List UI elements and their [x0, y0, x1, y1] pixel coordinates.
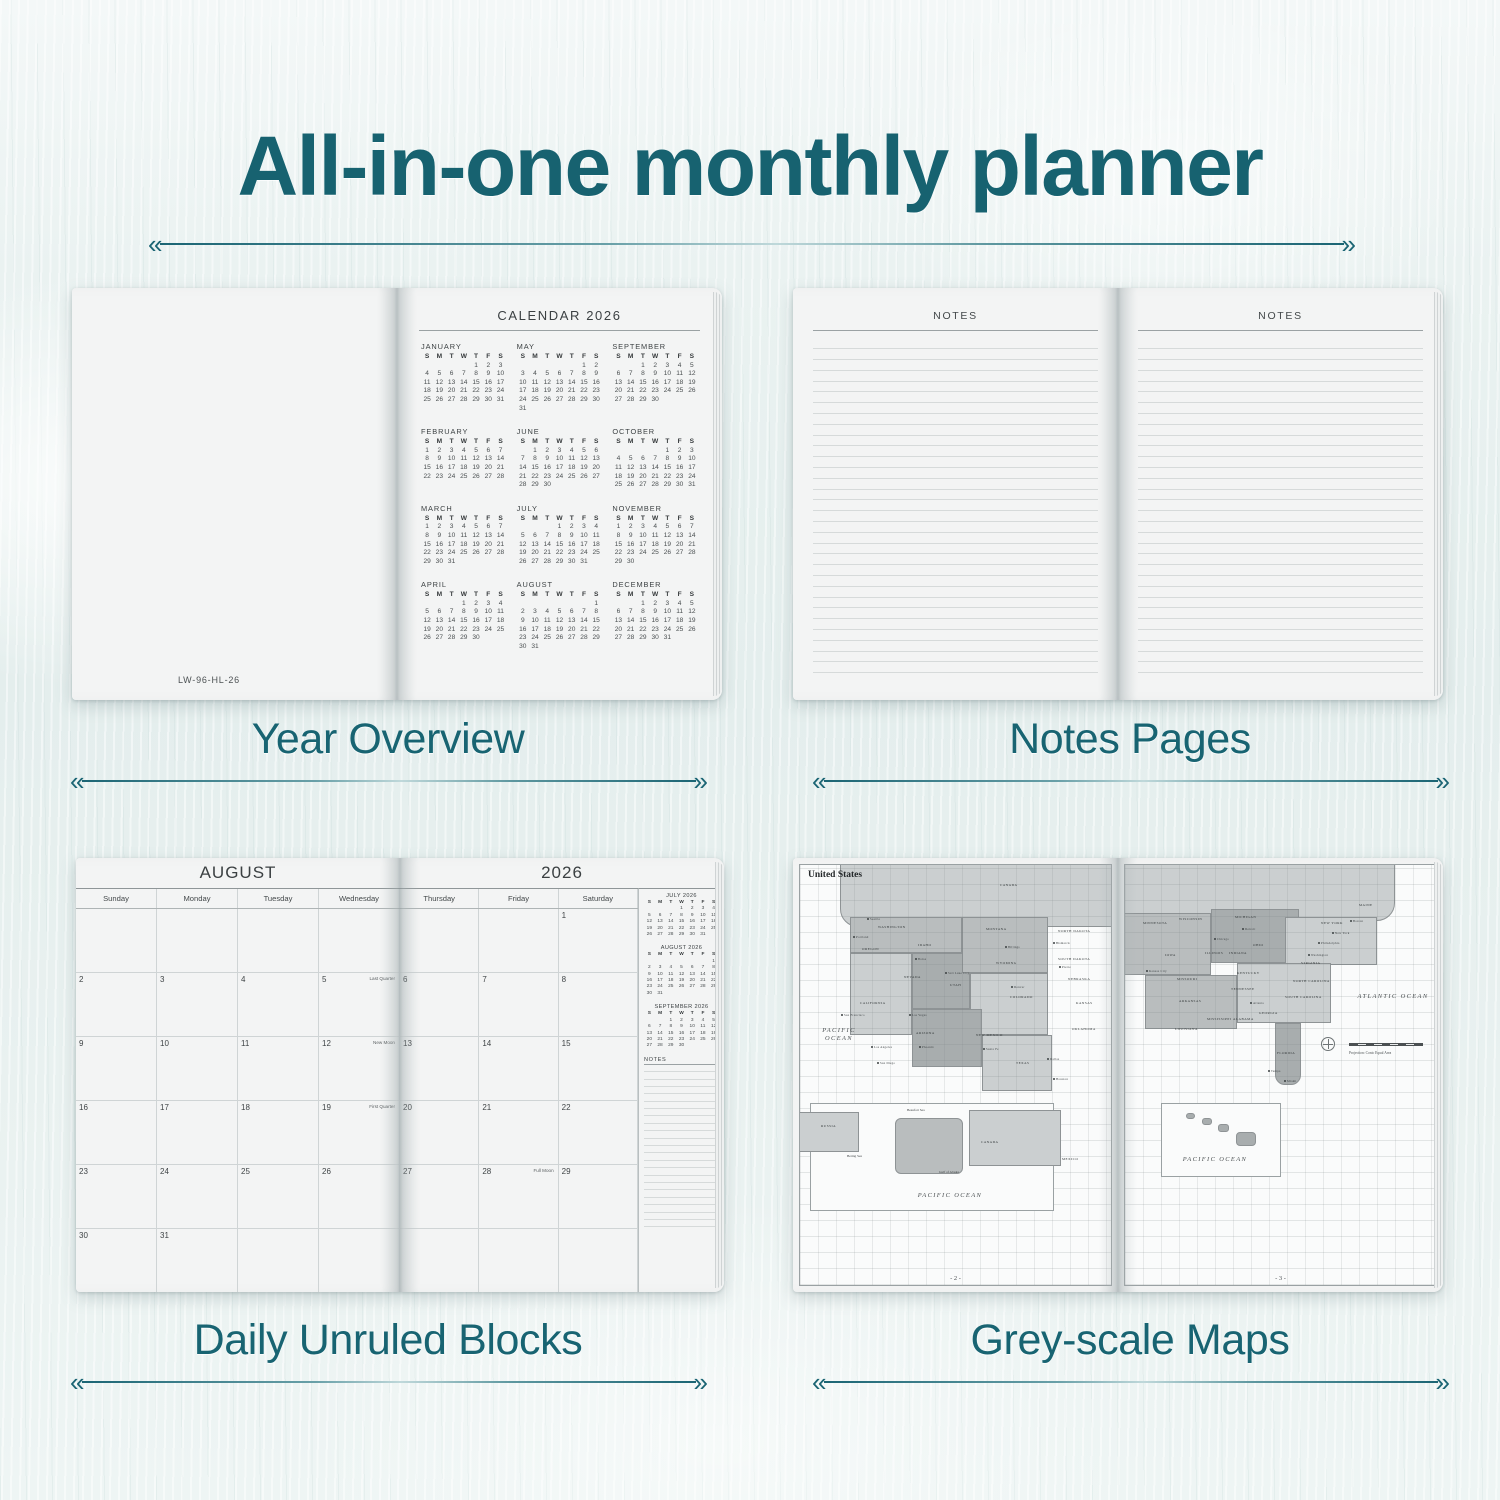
mini-calendar-grid: SMTWTFS123456789101112131415161718192021… — [644, 952, 719, 997]
empty-day — [541, 600, 553, 609]
weekday-initial: F — [482, 591, 494, 600]
empty-day — [517, 600, 529, 609]
empty-day — [625, 447, 637, 456]
ruled-line — [1138, 479, 1423, 490]
day-number: 11 — [590, 532, 602, 541]
day-number: 25 — [421, 396, 433, 405]
day-number: 6 — [482, 447, 494, 456]
planner-day-cell[interactable]: 5Last Quarter — [319, 973, 400, 1036]
ruled-line — [1138, 662, 1423, 673]
day-number: 5 — [433, 370, 445, 379]
planner-day-cell[interactable] — [479, 909, 558, 972]
map-state-label: WISCONSIN — [1179, 917, 1202, 921]
day-number: 26 — [676, 984, 687, 990]
day-number: 14 — [494, 532, 506, 541]
ruled-line — [813, 500, 1098, 511]
mini-calendar: JULY 2026SMTWTFS123456789101112131415161… — [644, 893, 719, 938]
day-number: 6 — [553, 370, 565, 379]
weekday-initial: S — [421, 591, 433, 600]
empty-day — [529, 362, 541, 371]
planner-day-cell[interactable]: 18 — [238, 1101, 319, 1164]
ruled-line — [813, 490, 1098, 501]
day-number: 13 — [674, 532, 686, 541]
ruled-line — [1138, 360, 1423, 371]
planner-day-cell[interactable] — [238, 909, 319, 972]
map-state-label: GEORGIA — [1259, 1011, 1278, 1015]
ocean-label-pacific-hawaii: PACIFIC OCEAN — [1180, 1156, 1250, 1164]
planner-day-cell[interactable] — [559, 1229, 638, 1292]
day-number: 16 — [433, 541, 445, 550]
day-number: 1 — [470, 362, 482, 371]
day-number: 12 — [517, 541, 529, 550]
planner-day-cell[interactable] — [319, 1229, 400, 1292]
ruled-line — [813, 349, 1098, 360]
planner-week-row: 1 — [400, 909, 638, 973]
month-day-grid: SMTWTFS123456789101112131415161718192021… — [612, 591, 698, 643]
day-number: 12 — [625, 464, 637, 473]
planner-day-cell[interactable]: 10 — [157, 1037, 238, 1100]
day-number: 30 — [566, 558, 578, 567]
map-city-label: Boston — [1353, 919, 1363, 923]
ruled-line — [813, 425, 1098, 436]
day-number: 12 — [470, 532, 482, 541]
day-number: 5 — [661, 523, 673, 532]
day-number: 8 — [553, 532, 565, 541]
planner-day-cell[interactable]: 24 — [157, 1165, 238, 1228]
ruled-line — [644, 1124, 719, 1131]
planner-day-cell[interactable]: 14 — [479, 1037, 558, 1100]
weekday-initial: T — [566, 591, 578, 600]
map-city-dot — [867, 918, 869, 920]
day-number: 26 — [578, 473, 590, 482]
map-state-label: OREGON — [862, 947, 879, 951]
label-mexico: MEXICO — [1062, 1157, 1078, 1161]
day-number: 26 — [541, 396, 553, 405]
day-number: 29 — [612, 558, 624, 567]
weekday-initial: T — [445, 515, 457, 524]
day-number: 2 — [470, 600, 482, 609]
day-number: 19 — [661, 541, 673, 550]
empty-day — [421, 600, 433, 609]
map-state-label: ILLINOIS — [1205, 951, 1223, 955]
day-number: 17 — [578, 541, 590, 550]
day-number: 25 — [494, 626, 506, 635]
day-number: 27 — [553, 396, 565, 405]
map-label-canada: CANADA — [1000, 883, 1018, 887]
day-number: 3 — [445, 523, 457, 532]
day-number: 17 — [686, 464, 698, 473]
month-block: MARCHSMTWTFS1234567891011121314151617181… — [421, 504, 507, 567]
map-city-dot — [1059, 966, 1061, 968]
day-number: 10 — [494, 370, 506, 379]
day-number: 9 — [625, 532, 637, 541]
day-number: 28 — [578, 634, 590, 643]
map-state-label: KANSAS — [1076, 1001, 1093, 1005]
empty-day — [517, 447, 529, 456]
day-number: 1 — [553, 523, 565, 532]
map-city-label: New York — [1335, 931, 1350, 935]
ruled-line — [813, 533, 1098, 544]
day-number: 6 — [590, 447, 602, 456]
book-monthly-planner: AUGUST SundayMondayTuesdayWednesday 2345… — [76, 858, 724, 1292]
planner-day-cell[interactable]: 16 — [76, 1101, 157, 1164]
day-number: 29 — [665, 1043, 676, 1049]
map-state-label: VIRGINIA — [1301, 961, 1320, 965]
day-number: 20 — [590, 464, 602, 473]
day-number: 23 — [433, 473, 445, 482]
day-number: 11 — [458, 532, 470, 541]
planner-day-cell[interactable] — [400, 909, 479, 972]
empty-day — [553, 362, 565, 371]
planner-week-row — [76, 909, 400, 973]
day-number: 4 — [649, 523, 661, 532]
planner-week-row: 131415 — [400, 1037, 638, 1101]
planner-day-cell[interactable]: 30 — [76, 1229, 157, 1292]
weekday-initial: T — [661, 438, 673, 447]
map-city-label: Bismarck — [1056, 941, 1070, 945]
map-title: United States — [808, 870, 862, 880]
day-number: 27 — [612, 396, 624, 405]
day-number: 11 — [541, 617, 553, 626]
weekday-initial: S — [590, 515, 602, 524]
month-block: JULYSMTWTFS12345678910111213141516171819… — [517, 504, 603, 567]
ruled-line — [1138, 500, 1423, 511]
map-city-dot — [871, 1046, 873, 1048]
weekday-initial: F — [578, 353, 590, 362]
day-number: 20 — [403, 1103, 475, 1112]
day-number: 28 — [445, 634, 457, 643]
day-number: 9 — [566, 532, 578, 541]
day-number: 30 — [482, 396, 494, 405]
day-number: 28 — [655, 1043, 666, 1049]
day-number: 22 — [590, 626, 602, 635]
planner-day-cell[interactable]: 7 — [479, 973, 558, 1036]
planner-day-cell[interactable] — [157, 909, 238, 972]
planner-day-cell[interactable]: 3 — [157, 973, 238, 1036]
weekday-initial: F — [578, 438, 590, 447]
map-city-dot — [1308, 954, 1310, 956]
day-number: 1 — [637, 600, 649, 609]
day-number: 31 — [517, 405, 529, 414]
planner-week-row: 3031 — [76, 1229, 400, 1292]
map-state-label: WYOMING — [996, 961, 1017, 965]
day-number: 20 — [674, 541, 686, 550]
month-name: NOVEMBER — [612, 504, 698, 513]
empty-day — [566, 600, 578, 609]
divider-line — [824, 780, 1437, 782]
map-inset-hawaii: PACIFIC OCEAN — [1161, 1103, 1281, 1177]
day-number: 25 — [649, 549, 661, 558]
day-number: 28 — [686, 549, 698, 558]
weekday-initial: T — [470, 353, 482, 362]
day-number: 30 — [517, 643, 529, 652]
planner-day-cell[interactable]: 26 — [319, 1165, 400, 1228]
day-number: 8 — [470, 370, 482, 379]
map-city-dot — [1332, 932, 1334, 934]
planner-day-cell[interactable]: 6 — [400, 973, 479, 1036]
map-city-label: Los Angeles — [874, 1045, 892, 1049]
map-state-label: TEXAS — [1016, 1061, 1029, 1065]
ruled-line — [644, 1146, 719, 1153]
planner-day-cell[interactable]: 22 — [559, 1101, 638, 1164]
day-number: 15 — [612, 541, 624, 550]
day-number: 7 — [625, 370, 637, 379]
day-number: 5 — [517, 532, 529, 541]
planner-day-cell[interactable]: 19First Quarter — [319, 1101, 400, 1164]
day-number: 6 — [529, 532, 541, 541]
day-number: 8 — [661, 455, 673, 464]
ocean-label-pacific-inset: PACIFIC OCEAN — [915, 1192, 985, 1200]
planner-day-cell[interactable]: 17 — [157, 1101, 238, 1164]
planner-day-cell[interactable]: 15 — [559, 1037, 638, 1100]
day-number: 20 — [612, 626, 624, 635]
day-number: 22 — [578, 387, 590, 396]
day-number: 14 — [578, 617, 590, 626]
planner-day-cell[interactable]: 31 — [157, 1229, 238, 1292]
ruled-line — [813, 479, 1098, 490]
day-number: 24 — [160, 1167, 234, 1176]
planner-day-cell[interactable]: 2 — [76, 973, 157, 1036]
day-number: 26 — [470, 473, 482, 482]
day-number: 23 — [482, 387, 494, 396]
day-number: 23 — [566, 549, 578, 558]
day-number: 24 — [553, 473, 565, 482]
map-city-dot — [1214, 938, 1216, 940]
day-number: 3 — [517, 370, 529, 379]
landmass-alaska — [895, 1118, 963, 1174]
planner-week-row: 23242526 — [76, 1165, 400, 1229]
weekday-initial: T — [566, 438, 578, 447]
day-number: 10 — [445, 455, 457, 464]
day-number: 27 — [674, 549, 686, 558]
mini-calendar-title: SEPTEMBER 2026 — [644, 1004, 719, 1010]
day-number: 3 — [661, 362, 673, 371]
planner-day-cell[interactable]: 9 — [76, 1037, 157, 1100]
day-number: 21 — [566, 387, 578, 396]
day-number: 1 — [458, 600, 470, 609]
map-state-label: MINNESOTA — [1143, 921, 1167, 925]
planner-day-cell[interactable] — [400, 1229, 479, 1292]
weekday-initial: S — [494, 515, 506, 524]
day-number: 26 — [686, 626, 698, 635]
day-number: 1 — [562, 911, 634, 920]
day-number: 22 — [529, 473, 541, 482]
ruled-line — [644, 1153, 719, 1160]
day-number: 25 — [612, 481, 624, 490]
map-state-label: NORTH CAROLINA — [1293, 979, 1330, 983]
day-number: 14 — [649, 464, 661, 473]
weekday-initial: T — [637, 438, 649, 447]
caption-maps: Grey-scale Maps — [810, 1316, 1450, 1365]
planner-day-cell[interactable]: 20 — [400, 1101, 479, 1164]
ruled-line — [644, 1213, 719, 1220]
day-number: 29 — [708, 984, 719, 990]
day-number: 19 — [686, 379, 698, 388]
day-number: 3 — [637, 523, 649, 532]
planner-day-rows-right: 16781314152021222728Full Moon29 — [400, 909, 638, 1292]
mini-calendar-grid: SMTWTFS123456789101112131415161718192021… — [644, 1011, 719, 1049]
day-number: 18 — [529, 387, 541, 396]
day-number: 13 — [445, 379, 457, 388]
day-number: 21 — [445, 626, 457, 635]
day-number: 20 — [433, 626, 445, 635]
day-number: 14 — [541, 541, 553, 550]
planner-day-cell[interactable] — [238, 1229, 319, 1292]
ruled-line — [1138, 619, 1423, 630]
moon-phase-label: Full Moon — [533, 1168, 553, 1173]
mini-calendar-grid: SMTWTFS123456789101112131415161718192021… — [644, 900, 719, 938]
ruled-line — [644, 1190, 719, 1197]
planner-day-cell[interactable] — [319, 909, 400, 972]
caption-notes-pages: Notes Pages — [810, 715, 1450, 764]
empty-day — [445, 600, 457, 609]
planner-day-cell[interactable] — [479, 1229, 558, 1292]
map-city-dot — [1268, 1070, 1270, 1072]
planner-day-cell[interactable]: 12New Moon — [319, 1037, 400, 1100]
weekday-header: Monday — [157, 889, 238, 908]
day-number: 3 — [529, 608, 541, 617]
day-number: 9 — [433, 532, 445, 541]
empty-day — [612, 600, 624, 609]
ruled-line — [813, 576, 1098, 587]
day-number: 27 — [445, 396, 457, 405]
planner-day-cell[interactable]: 27 — [400, 1165, 479, 1228]
planner-day-cell[interactable]: 23 — [76, 1165, 157, 1228]
map-city-dot — [1053, 1078, 1055, 1080]
month-block: OCTOBERSMTWTFS12345678910111213141516171… — [612, 427, 698, 490]
day-number: 30 — [644, 991, 655, 997]
ruled-line — [813, 338, 1098, 349]
weekday-initial: M — [625, 438, 637, 447]
ruled-line — [644, 1176, 719, 1183]
planner-day-cell[interactable]: 8 — [559, 973, 638, 1036]
map-city-label: Salt Lake City — [948, 971, 970, 975]
map-city-label: Chicago — [1217, 937, 1229, 941]
day-number: 29 — [421, 558, 433, 567]
map-city-dot — [1146, 970, 1148, 972]
day-number: 14 — [625, 617, 637, 626]
day-number: 22 — [562, 1103, 634, 1112]
day-number: 27 — [590, 473, 602, 482]
day-number: 20 — [612, 387, 624, 396]
day-number: 7 — [578, 608, 590, 617]
planner-day-cell[interactable]: 1 — [559, 909, 638, 972]
month-block: JUNESMTWTFS12345678910111213141516171819… — [517, 427, 603, 490]
day-number: 24 — [686, 473, 698, 482]
planner-day-cell[interactable]: 25 — [238, 1165, 319, 1228]
planner-day-cell[interactable] — [76, 909, 157, 972]
day-number: 14 — [482, 1039, 554, 1048]
day-number: 12 — [661, 532, 673, 541]
chevron-right-icon: » — [1436, 768, 1450, 794]
ruled-line — [813, 371, 1098, 382]
day-number: 11 — [674, 608, 686, 617]
day-number: 29 — [458, 634, 470, 643]
ruled-line — [1138, 425, 1423, 436]
weekday-initial: M — [625, 515, 637, 524]
day-number: 11 — [529, 379, 541, 388]
empty-day — [566, 362, 578, 371]
day-number: 30 — [649, 634, 661, 643]
map-city-label: Kansas City — [1149, 969, 1167, 973]
notes-header-rule — [1138, 330, 1423, 331]
planner-day-cell[interactable]: 4 — [238, 973, 319, 1036]
planner-week-row — [400, 1229, 638, 1292]
weekday-initial: W — [553, 438, 565, 447]
day-number: 11 — [674, 370, 686, 379]
day-number: 2 — [79, 975, 153, 984]
day-number: 1 — [421, 447, 433, 456]
day-number: 7 — [445, 608, 457, 617]
month-name: AUGUST — [517, 580, 603, 589]
day-number: 25 — [698, 1037, 709, 1043]
day-number: 24 — [482, 626, 494, 635]
ruled-line — [1138, 565, 1423, 576]
day-number: 18 — [566, 464, 578, 473]
day-number: 31 — [686, 481, 698, 490]
day-number: 22 — [470, 387, 482, 396]
day-number: 30 — [590, 396, 602, 405]
day-number: 16 — [517, 626, 529, 635]
ruled-line — [813, 360, 1098, 371]
planner-week-row: 2728Full Moon29 — [400, 1165, 638, 1229]
day-number: 4 — [674, 362, 686, 371]
day-number: 5 — [421, 608, 433, 617]
month-name: JUNE — [517, 427, 603, 436]
day-number: 21 — [494, 464, 506, 473]
planner-day-cell[interactable]: 21 — [479, 1101, 558, 1164]
ruled-line — [1138, 598, 1423, 609]
day-number: 29 — [553, 558, 565, 567]
day-number: 14 — [494, 455, 506, 464]
empty-day — [637, 447, 649, 456]
day-number: 25 — [674, 626, 686, 635]
map-right-page: ATLANTIC OCEAN Projection: Conic Equal A… — [1118, 858, 1443, 1292]
notes-ruled-lines-left — [813, 338, 1098, 673]
weekday-initial: F — [482, 438, 494, 447]
day-number: 4 — [421, 370, 433, 379]
planner-day-cell[interactable]: 28Full Moon — [479, 1165, 558, 1228]
day-number: 30 — [649, 396, 661, 405]
day-number: 8 — [458, 608, 470, 617]
planner-day-cell[interactable]: 13 — [400, 1037, 479, 1100]
map-city-label: Washington — [1311, 953, 1328, 957]
empty-day — [458, 362, 470, 371]
day-number: 15 — [661, 464, 673, 473]
empty-day — [529, 523, 541, 532]
ruled-line — [644, 1131, 719, 1138]
ruled-line — [813, 554, 1098, 565]
day-number: 9 — [433, 455, 445, 464]
day-number: 10 — [637, 532, 649, 541]
planner-day-cell[interactable]: 29 — [559, 1165, 638, 1228]
day-number: 6 — [674, 523, 686, 532]
day-number: 20 — [637, 473, 649, 482]
weekday-initial: M — [433, 515, 445, 524]
empty-day — [517, 362, 529, 371]
month-block: APRILSMTWTFS1234567891011121314151617181… — [421, 580, 507, 651]
ruled-line — [1138, 436, 1423, 447]
day-number: 8 — [637, 608, 649, 617]
map-inset-alaska: RUSSIA CANADA Bering Sea Gulf of Alaska … — [810, 1103, 1054, 1211]
day-number: 28 — [625, 396, 637, 405]
day-number: 1 — [637, 362, 649, 371]
planner-day-cell[interactable]: 11 — [238, 1037, 319, 1100]
day-number: 27 — [612, 634, 624, 643]
day-number: 31 — [529, 643, 541, 652]
day-number: 27 — [637, 481, 649, 490]
map-city-label: San Francisco — [844, 1013, 865, 1017]
